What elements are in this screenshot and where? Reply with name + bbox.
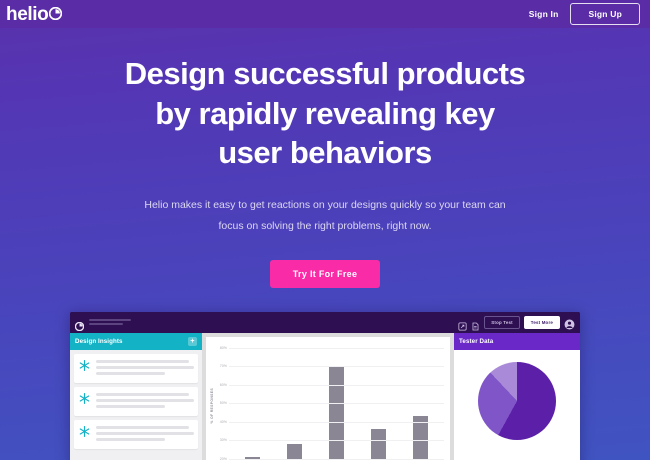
- top-navigation-bar: helio Sign In Sign Up: [0, 0, 650, 28]
- list-item[interactable]: [74, 420, 198, 449]
- list-item[interactable]: [74, 387, 198, 416]
- hero-subheading: Helio makes it easy to get reactions on …: [135, 195, 515, 237]
- list-item-placeholder-text: [96, 392, 194, 411]
- design-insights-header: Design Insights +: [70, 333, 202, 350]
- chart-y-tick-label: 50%: [220, 401, 227, 405]
- chart-bar[interactable]: [329, 366, 344, 460]
- bar-chart: % OF RESPONSES 80%70%60%50%40%30%20%: [206, 337, 450, 460]
- list-item-placeholder-text: [96, 425, 194, 444]
- chart-y-tick-label: 40%: [220, 420, 227, 424]
- mockup-app-header: Stop Test Test More: [70, 312, 580, 333]
- list-item[interactable]: [74, 354, 198, 383]
- document-icon[interactable]: [471, 318, 480, 327]
- headline-line-3: user behaviors: [40, 133, 610, 173]
- brand-logo[interactable]: helio: [6, 5, 62, 24]
- asterisk-icon: [78, 425, 91, 438]
- sign-in-link[interactable]: Sign In: [529, 9, 559, 19]
- page-title: Design successful products by rapidly re…: [40, 54, 610, 173]
- helio-pie-mark-icon: [49, 7, 62, 20]
- user-avatar-icon[interactable]: [564, 317, 575, 328]
- headline-line-1: Design successful products: [40, 54, 610, 94]
- hero-section: Design successful products by rapidly re…: [0, 28, 650, 288]
- chart-bar[interactable]: [371, 429, 386, 460]
- pie-chart: [478, 362, 556, 440]
- chart-gridline: [229, 366, 444, 367]
- try-it-for-free-button[interactable]: Try It For Free: [270, 260, 381, 288]
- headline-line-2: by rapidly revealing key: [40, 94, 610, 134]
- chart-y-tick-label: 60%: [220, 383, 227, 387]
- chart-bar[interactable]: [413, 416, 428, 460]
- mockup-helio-pie-mark-icon: [75, 318, 84, 327]
- asterisk-icon: [78, 392, 91, 405]
- chart-gridline: [229, 385, 444, 386]
- chart-gridline: [229, 348, 444, 349]
- design-insights-title: Design Insights: [75, 338, 123, 345]
- results-chart-panel: % OF RESPONSES 80%70%60%50%40%30%20%: [202, 333, 454, 460]
- pie-chart-container: [454, 350, 580, 440]
- chart-y-tick-label: 80%: [220, 346, 227, 350]
- stop-test-button[interactable]: Stop Test: [484, 316, 519, 329]
- chart-y-tick-label: 70%: [220, 364, 227, 368]
- chart-gridline: [229, 440, 444, 441]
- mockup-url-placeholder: [89, 319, 131, 327]
- external-link-icon[interactable]: [458, 318, 467, 327]
- sign-up-button[interactable]: Sign Up: [570, 3, 640, 25]
- mockup-body: Design Insights +: [70, 333, 580, 460]
- asterisk-icon: [78, 359, 91, 372]
- subhead-line-2: focus on solving the right problems, rig…: [218, 220, 431, 232]
- add-insight-button[interactable]: +: [188, 337, 197, 346]
- tester-data-header: Tester Data: [454, 333, 580, 350]
- brand-name: helio: [6, 5, 48, 24]
- chart-gridline: [229, 403, 444, 404]
- mockup-toolbar: Stop Test Test More: [458, 316, 575, 329]
- tester-data-title: Tester Data: [459, 338, 493, 345]
- nav-actions: Sign In Sign Up: [529, 3, 640, 25]
- cta-container: Try It For Free: [40, 260, 610, 288]
- subhead-line-1: Helio makes it easy to get reactions on …: [144, 199, 505, 211]
- chart-plot-area: [229, 344, 444, 460]
- chart-bars: [231, 344, 442, 460]
- chart-y-axis-ticks: 80%70%60%50%40%30%20%: [216, 344, 229, 460]
- chart-gridline: [229, 422, 444, 423]
- design-insights-panel: Design Insights +: [70, 333, 202, 460]
- chart-bar[interactable]: [287, 444, 302, 460]
- product-screenshot-mockup: Stop Test Test More Design Insights +: [70, 312, 580, 460]
- chart-y-axis-label: % OF RESPONSES: [210, 388, 214, 424]
- test-more-button[interactable]: Test More: [524, 316, 560, 329]
- chart-y-tick-label: 30%: [220, 438, 227, 442]
- tester-data-panel: Tester Data: [454, 333, 580, 460]
- list-item-placeholder-text: [96, 359, 194, 378]
